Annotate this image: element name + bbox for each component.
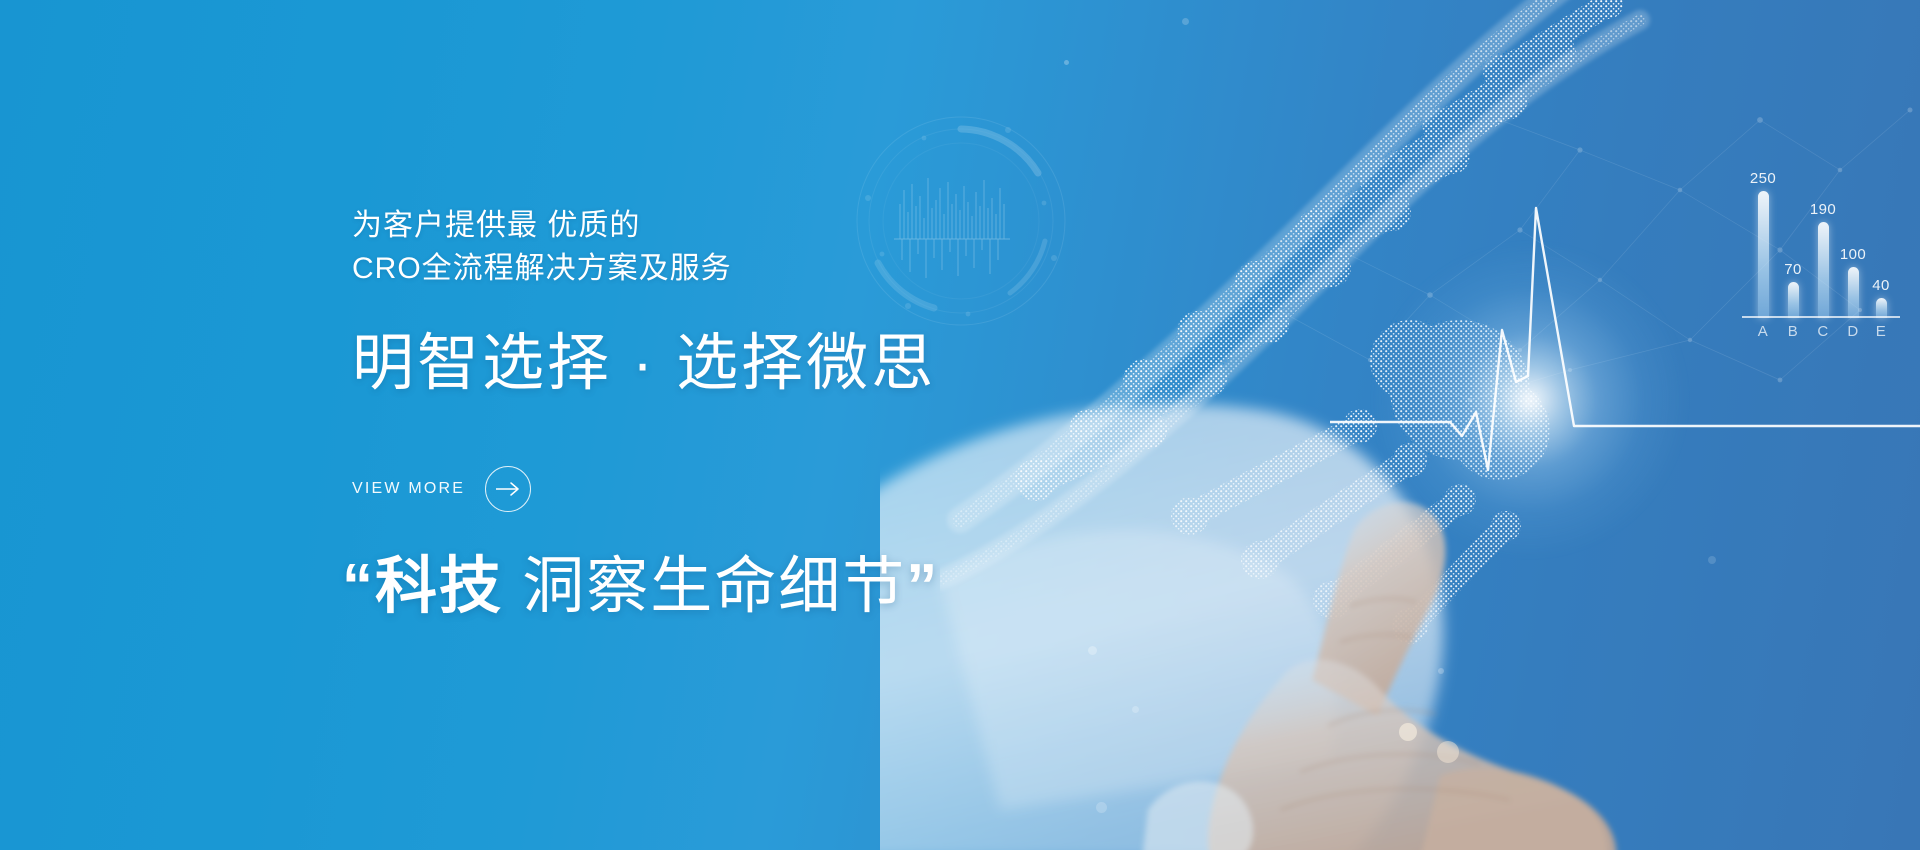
bar-chart-plot: 250 70 190 100 40 (1742, 186, 1900, 318)
bar-category-e: E (1876, 323, 1887, 340)
bar-value-c: 190 (1810, 201, 1836, 218)
view-more-label: VIEW MORE (352, 480, 465, 498)
bar-b (1788, 282, 1799, 318)
hero-banner: 250 70 190 100 40 A B C D E 为客户提供最 优质的 C… (0, 0, 1920, 850)
bokeh-dot (1708, 556, 1716, 564)
hero-quote: “科技 洞察生命细节” (342, 552, 939, 621)
arrow-right-icon[interactable] (485, 466, 531, 512)
hero-content: 为客户提供最 优质的 CRO全流程解决方案及服务 明智选择 · 选择微思 VIE… (352, 0, 1252, 850)
chart-axis-line (1742, 316, 1900, 318)
hero-subtitle: 为客户提供最 优质的 CRO全流程解决方案及服务 (352, 205, 732, 290)
bar-value-d: 100 (1840, 246, 1866, 263)
bar-e (1876, 298, 1887, 318)
bar-value-b: 70 (1784, 261, 1802, 278)
quote-close-mark: ” (906, 552, 939, 621)
quote-open-mark: “ (342, 552, 375, 621)
bar-category-b: B (1788, 323, 1799, 340)
quote-keyword: 科技 (375, 552, 503, 621)
bar-category-c: C (1817, 323, 1828, 340)
bar-a (1758, 191, 1769, 318)
bar-chart-categories: A B C D E (1742, 323, 1900, 349)
bar-chart: 250 70 190 100 40 A B C D E (1742, 186, 1902, 366)
bar-category-a: A (1758, 323, 1769, 340)
bar-d (1848, 267, 1859, 318)
bar-c (1818, 222, 1829, 318)
hero-headline: 明智选择 · 选择微思 (352, 330, 936, 398)
view-more-button[interactable]: VIEW MORE (352, 466, 531, 512)
bar-value-e: 40 (1872, 277, 1890, 294)
bokeh-dot (1438, 668, 1444, 674)
bar-value-a: 250 (1750, 170, 1776, 187)
bar-category-d: D (1847, 323, 1858, 340)
quote-rest: 洞察生命细节 (503, 552, 906, 621)
